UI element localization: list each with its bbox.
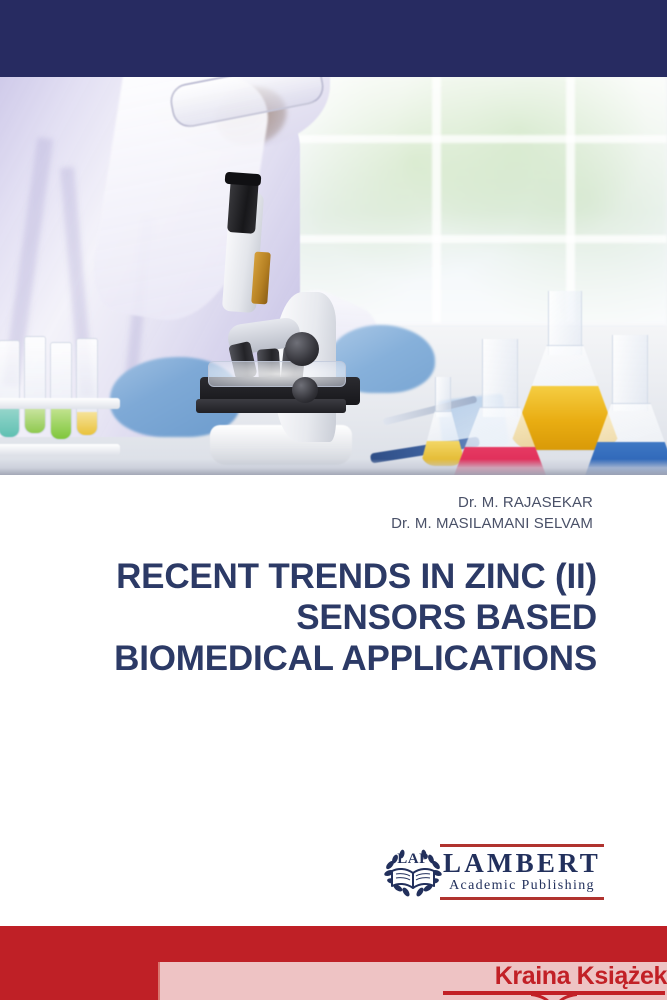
watermark-panel: Kraina Książek [158,962,667,1000]
microscope-slide [208,361,346,387]
watermark-book-icon [531,993,577,1000]
bottom-white-gap [0,915,667,926]
rack-shelf [0,444,120,455]
top-navy-band [0,0,667,77]
test-tube-liquid [25,406,45,433]
title-line-1: RECENT TRENDS IN ZINC (II) [0,556,597,597]
test-tube [24,336,46,434]
author-name: Dr. M. MASILAMANI SELVAM [0,513,593,534]
microscope-stage-lower [196,399,346,413]
book-title: RECENT TRENDS IN ZINC (II) SENSORS BASED… [0,534,667,679]
cover-text-area: Dr. M. RAJASEKAR Dr. M. MASILAMANI SELVA… [0,475,667,679]
title-line-3: BIOMEDICAL APPLICATIONS [0,638,597,679]
flask-neck [612,335,648,411]
window-mullion-icon [270,135,667,143]
photo-bottom-edge [0,459,667,475]
magenta-flask [438,339,560,475]
microscope-focus-knob [292,377,318,403]
blue-flask [570,335,667,475]
rack-shelf [0,398,120,409]
publisher-logo: LAP LAMBERT Academic Publishing [382,843,604,899]
open-book-shape [531,993,577,1000]
authors-block: Dr. M. RAJASEKAR Dr. M. MASILAMANI SELVA… [0,475,667,534]
window-mullion-icon [270,235,667,243]
flask-neck [482,339,518,417]
lap-emblem-icon: LAP [382,843,444,899]
book-cover: Dr. M. RAJASEKAR Dr. M. MASILAMANI SELVA… [0,0,667,1000]
author-name: Dr. M. RAJASEKAR [0,492,593,513]
lambert-wordmark: LAMBERT Academic Publishing [440,844,604,900]
test-tube [50,342,72,440]
microscope-focus-knob [285,332,319,366]
test-tube [76,338,98,436]
cover-photograph [0,77,667,475]
microscope-eyepiece-cap [225,172,262,186]
test-tube-rack [0,332,124,457]
publisher-name: LAMBERT [440,847,604,878]
svg-text:LAP: LAP [397,851,429,867]
logo-rule-bottom [440,897,604,900]
lap-wreath-book-icon: LAP [382,843,444,899]
publisher-tagline: Academic Publishing [440,878,604,897]
test-tube [0,340,20,438]
test-tube-liquid [0,404,19,437]
title-line-2: SENSORS BASED [0,597,597,638]
watermark-text: Kraina Książek [495,963,667,989]
test-tube-liquid [77,412,97,435]
